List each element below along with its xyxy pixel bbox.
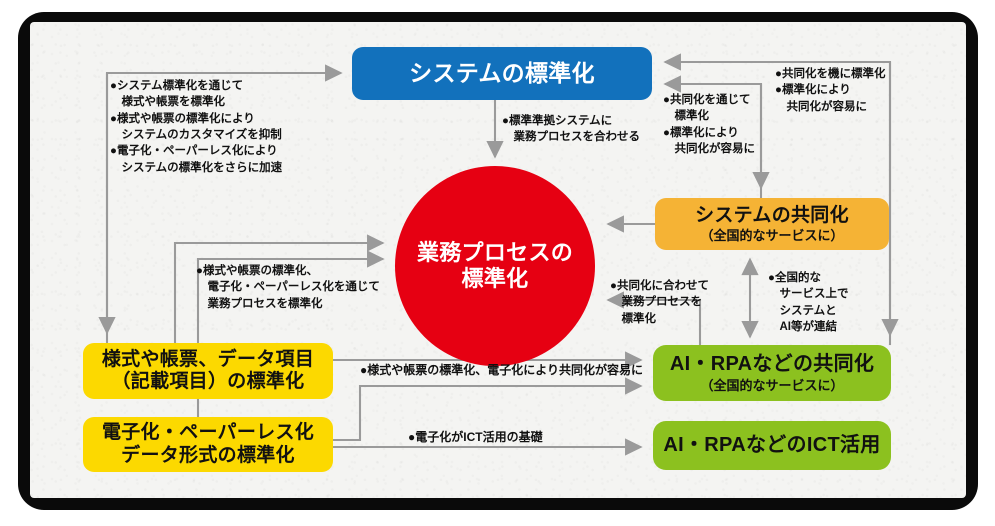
node-system-sharing[interactable]: システムの共同化 （全国的なサービスに） (655, 198, 889, 250)
annotation-nationwide-link: ●全国的な サービス上で システムと AI等が連結 (768, 270, 849, 335)
node-system-standardization-title: システムの標準化 (409, 60, 595, 87)
annotation-system-to-process: ●標準準拠システムに 業務プロセスを合わせる (502, 113, 640, 146)
annotation-left-system-forms: ●システム標準化を通じて 様式や帳票を標準化 ●様式や帳票の標準化により システ… (110, 78, 282, 176)
node-digitization-paperless[interactable]: 電子化・ペーパーレス化 データ形式の標準化 (83, 417, 333, 472)
node-ai-rpa-sharing-subtitle: （全国的なサービスに） (700, 378, 843, 393)
node-ai-rpa-sharing[interactable]: AI・RPAなどの共同化 （全国的なサービスに） (653, 345, 891, 401)
annotation-mid-forms-process: ●様式や帳票の標準化、 電子化・ペーパーレス化を通じて 業務プロセスを標準化 (196, 263, 380, 312)
node-system-standardization[interactable]: システムの標準化 (352, 47, 652, 100)
diagram-canvas: システムの標準化 業務プロセスの 標準化 システムの共同化 （全国的なサービスに… (0, 0, 995, 526)
node-digitization-paperless-title: 電子化・ペーパーレス化 データ形式の標準化 (102, 422, 314, 467)
node-process-standardization-title: 業務プロセスの 標準化 (417, 240, 573, 292)
annotation-forms-easy-sharing: ●様式や帳票の標準化、電子化により共同化が容易に (360, 362, 643, 379)
annotation-right-sharing-standardization: ●共同化を通じて 標準化 ●標準化により 共同化が容易に (663, 92, 755, 157)
node-ai-rpa-ict-title: AI・RPAなどのICT活用 (663, 434, 880, 458)
annotation-right-sharing-standardization-2: ●共同化を機に標準化 ●標準化により 共同化が容易に (775, 66, 885, 115)
annotation-sharing-process: ●共同化に合わせて 業務プロセスを 標準化 (610, 278, 709, 327)
node-process-standardization[interactable]: 業務プロセスの 標準化 (395, 166, 595, 366)
node-forms-data-items[interactable]: 様式や帳票、データ項目 （記載項目）の標準化 (83, 343, 333, 399)
node-ai-rpa-sharing-title: AI・RPAなどの共同化 (670, 353, 874, 377)
node-system-sharing-subtitle: （全国的なサービスに） (700, 228, 843, 243)
node-ai-rpa-ict[interactable]: AI・RPAなどのICT活用 (653, 421, 891, 470)
node-forms-data-items-title: 様式や帳票、データ項目 （記載項目）の標準化 (102, 349, 314, 394)
annotation-digital-ict-base: ●電子化がICT活用の基礎 (408, 429, 543, 446)
node-system-sharing-title: システムの共同化 (695, 205, 849, 227)
